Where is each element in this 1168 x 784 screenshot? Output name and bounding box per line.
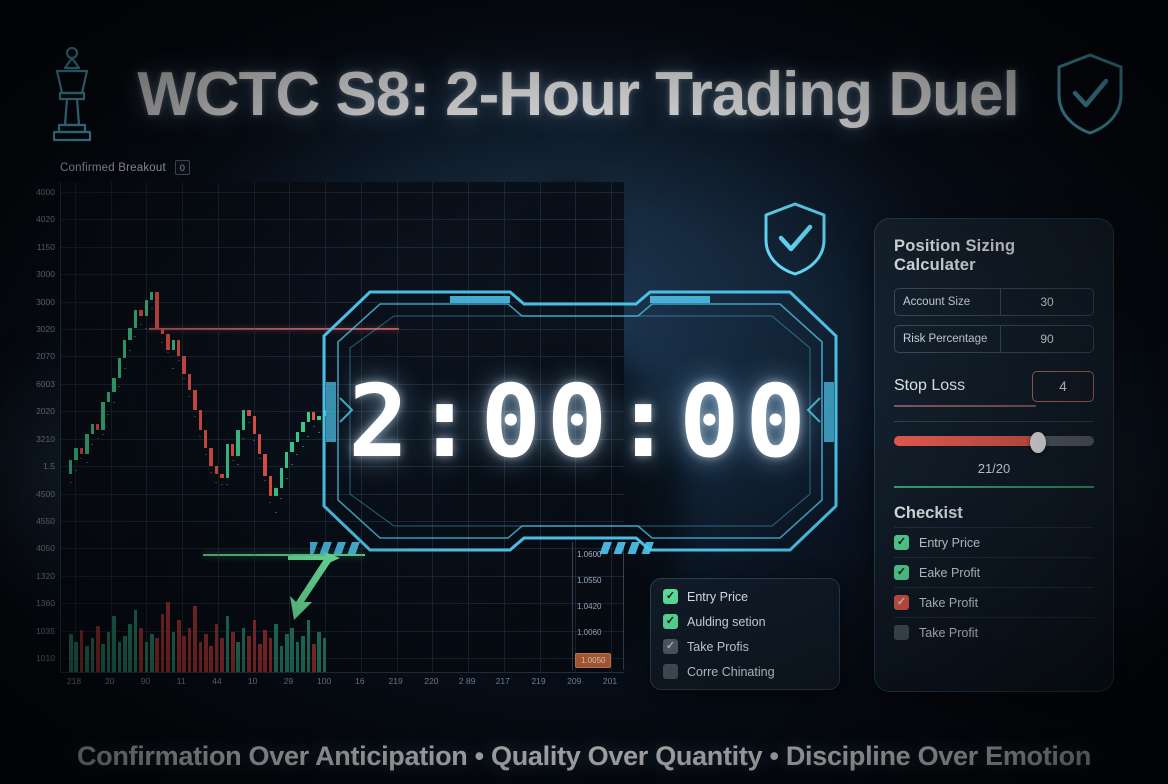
checklist-item[interactable]: ✓Take Profis <box>663 639 827 654</box>
y-axis-tick: 1360 <box>36 598 55 608</box>
panel-divider <box>894 421 1094 422</box>
candlestick <box>263 182 266 672</box>
candlestick <box>215 182 218 672</box>
candle-body <box>242 410 245 430</box>
candle-body <box>145 300 148 316</box>
volume-bar <box>231 632 235 672</box>
candle-wick <box>292 464 293 465</box>
checklist-item[interactable]: Take Profit <box>894 617 1094 647</box>
candle-wick <box>286 478 287 479</box>
y-axis-tick: 1.5 <box>43 461 55 471</box>
volume-bar <box>296 642 300 672</box>
candle-wick <box>70 482 71 483</box>
y-axis-tick: 4020 <box>36 214 55 224</box>
candle-wick <box>167 352 168 353</box>
candle-body <box>139 310 142 316</box>
candlestick <box>166 182 169 672</box>
candle-body <box>69 460 72 474</box>
chart-badge: 0 <box>175 160 190 175</box>
volume-bar <box>128 624 132 672</box>
checkbox-checked[interactable]: ✓ <box>894 535 909 550</box>
candle-wick <box>232 460 233 461</box>
candlestick <box>85 182 88 672</box>
candle-body <box>231 444 234 456</box>
candlestick <box>242 182 245 672</box>
candlestick <box>139 182 142 672</box>
candle-wick <box>113 402 114 403</box>
candle-wick <box>173 368 174 369</box>
x-axis-tick: 20 <box>105 676 114 686</box>
candle-body <box>177 340 180 356</box>
checklist-item[interactable]: ✓Eake Profit <box>894 557 1094 587</box>
volume-bar <box>226 616 230 672</box>
header: WCTC S8: 2-Hour Trading Duel <box>0 34 1168 154</box>
candlestick <box>231 182 234 672</box>
countdown-timer-hud: 2:00:00 <box>310 278 850 564</box>
candle-wick <box>216 482 217 483</box>
candle-wick <box>205 454 206 455</box>
right-axis-price: 1.0550 <box>577 576 601 585</box>
chess-king-icon <box>41 41 103 147</box>
candle-wick <box>259 458 260 459</box>
candle-body <box>134 310 137 328</box>
x-axis-tick: 100 <box>317 676 331 686</box>
candle-wick <box>211 472 212 473</box>
candle-body <box>215 466 218 474</box>
chart-x-axis: 218209011441029100162192202 892172192092… <box>60 674 624 692</box>
candle-body <box>263 454 266 476</box>
checkbox-checked[interactable]: ✓ <box>894 565 909 580</box>
candlestick <box>69 182 72 672</box>
volume-bar <box>107 632 111 672</box>
candle-wick <box>238 464 239 465</box>
y-axis-tick: 1035 <box>36 626 55 636</box>
candle-body <box>269 476 272 496</box>
volume-bar <box>247 636 251 672</box>
volume-bar <box>96 626 100 672</box>
volume-bar <box>74 642 78 672</box>
candlestick <box>74 182 77 672</box>
volume-bar <box>263 630 267 672</box>
position-sizing-panel[interactable]: Position Sizing Calculater Account Size … <box>874 218 1114 692</box>
candle-wick <box>281 498 282 499</box>
volume-bar <box>177 620 181 672</box>
candle-body <box>258 434 261 454</box>
candle-body <box>80 448 83 454</box>
candle-body <box>193 390 196 410</box>
volume-bar <box>290 628 294 672</box>
y-axis-tick: 4500 <box>36 489 55 499</box>
y-axis-tick: 2070 <box>36 351 55 361</box>
risk-percentage-label: Risk Percentage <box>895 326 1001 352</box>
candle-body <box>280 468 283 488</box>
candle-wick <box>254 440 255 441</box>
risk-percentage-value[interactable]: 90 <box>1001 326 1093 352</box>
y-axis-tick: 3020 <box>36 324 55 334</box>
shield-check-icon <box>1053 51 1127 137</box>
volume-bar <box>317 632 321 672</box>
candlestick <box>128 182 131 672</box>
candle-wick <box>184 378 185 379</box>
checklist-item[interactable]: ✓Take Profit <box>894 587 1094 617</box>
candle-body <box>236 430 239 456</box>
volume-bar <box>85 646 89 672</box>
volume-bar <box>274 624 278 672</box>
candlestick <box>112 182 115 672</box>
panel-green-divider <box>894 486 1094 488</box>
checklist-item-label: Corre Chinating <box>687 665 775 679</box>
candlestick <box>274 182 277 672</box>
candle-wick <box>189 396 190 397</box>
x-axis-tick: 220 <box>424 676 438 686</box>
volume-bar <box>323 638 327 672</box>
candle-body <box>155 292 158 328</box>
candle-body <box>161 328 164 334</box>
x-axis-tick: 29 <box>284 676 293 686</box>
candle-body <box>172 340 175 350</box>
candlestick <box>177 182 180 672</box>
checklist-item-label: Aulding setion <box>687 615 766 629</box>
candlestick <box>155 182 158 672</box>
candle-wick <box>151 308 152 309</box>
candle-wick <box>302 446 303 447</box>
candlestick <box>118 182 121 672</box>
candlestick <box>161 182 164 672</box>
account-size-value[interactable]: 30 <box>1001 289 1093 315</box>
candlestick <box>188 182 191 672</box>
candle-body <box>101 402 104 430</box>
volume-bar <box>301 636 305 672</box>
candle-body <box>107 392 110 402</box>
candle-body <box>85 434 88 454</box>
candlestick <box>145 182 148 672</box>
slider-thumb[interactable] <box>1030 432 1046 453</box>
candlestick <box>182 182 185 672</box>
candlestick <box>193 182 196 672</box>
x-axis-tick: 219 <box>531 676 545 686</box>
right-axis-price: 1.0060 <box>577 628 601 637</box>
right-axis-price: 1.0420 <box>577 602 601 611</box>
x-axis-tick: 219 <box>389 676 403 686</box>
checklist-item[interactable]: Corre Chinating <box>663 664 827 679</box>
chart-header: Confirmed Breakout 0 <box>60 160 190 175</box>
candle-wick <box>76 470 77 471</box>
volume-bar <box>91 638 95 672</box>
volume-bar <box>80 630 84 672</box>
candle-body <box>296 432 299 442</box>
candle-body <box>91 424 94 434</box>
risk-percentage-row[interactable]: Risk Percentage 90 <box>894 325 1094 353</box>
candle-wick <box>146 328 147 329</box>
checkbox-checked[interactable]: ✓ <box>663 589 678 604</box>
volume-bar <box>155 638 159 672</box>
x-axis-tick: 90 <box>141 676 150 686</box>
checklist-item-label: Take Profit <box>919 626 978 640</box>
account-size-row[interactable]: Account Size 30 <box>894 288 1094 316</box>
volume-bar <box>123 636 127 672</box>
candle-body <box>204 430 207 448</box>
candle-wick <box>243 438 244 439</box>
y-axis-tick: 4550 <box>36 516 55 526</box>
checklist-item-label: Entry Price <box>687 590 748 604</box>
volume-bar <box>101 644 105 672</box>
candle-wick <box>227 484 228 485</box>
volume-bar <box>258 644 262 672</box>
y-axis-tick: 1150 <box>37 242 55 252</box>
candle-body <box>166 334 169 350</box>
timer-value: 2:00:00 <box>310 278 850 564</box>
candlestick <box>220 182 223 672</box>
y-axis-tick: 2020 <box>36 406 55 416</box>
volume-bar <box>188 628 192 672</box>
shield-check-badge-icon <box>760 200 830 276</box>
checkbox-checked[interactable]: ✓ <box>663 614 678 629</box>
x-axis-tick: 44 <box>212 676 221 686</box>
volume-bar <box>280 646 284 672</box>
volume-bar <box>204 634 208 672</box>
candle-body <box>199 410 202 430</box>
volume-bar <box>118 642 122 672</box>
poster-canvas: WCTC S8: 2-Hour Trading Duel Confirmed B… <box>0 0 1168 784</box>
panel-title: Position Sizing Calculater <box>894 237 1094 275</box>
candle-wick <box>108 414 109 415</box>
candle-wick <box>270 502 271 503</box>
candle-body <box>301 422 304 432</box>
candle-body <box>123 340 126 358</box>
candle-wick <box>97 438 98 439</box>
volume-bar <box>172 632 176 672</box>
y-axis-tick: 1320 <box>36 571 55 581</box>
candle-body <box>96 424 99 430</box>
x-axis-tick: 10 <box>248 676 257 686</box>
checklist-title: Checkist <box>894 504 1094 523</box>
candlestick <box>107 182 110 672</box>
volume-bar <box>69 634 73 672</box>
candle-wick <box>103 434 104 435</box>
candlestick <box>134 182 137 672</box>
checklist-item-label: Eake Profit <box>919 566 980 580</box>
candle-body <box>226 444 229 478</box>
volume-bar <box>215 624 219 672</box>
volume-bar <box>182 636 186 672</box>
checkbox-unchecked[interactable] <box>894 625 909 640</box>
y-axis-tick: 3000 <box>36 297 55 307</box>
stop-loss-label: Stop Loss <box>894 377 965 395</box>
candlestick <box>226 182 229 672</box>
checklist-item[interactable]: ✓Entry Price <box>894 527 1094 557</box>
candlestick <box>258 182 261 672</box>
x-axis-tick: 201 <box>603 676 617 686</box>
candle-wick <box>308 436 309 437</box>
x-axis-tick: 11 <box>177 676 186 686</box>
candlestick <box>96 182 99 672</box>
candle-wick <box>248 422 249 423</box>
candle-wick <box>297 454 298 455</box>
page-title: WCTC S8: 2-Hour Trading Duel <box>137 59 1018 130</box>
x-axis-tick: 209 <box>567 676 581 686</box>
checkbox-unchecked[interactable] <box>663 664 678 679</box>
y-axis-tick: 4000 <box>36 187 55 197</box>
checklist-item-label: Take Profit <box>919 596 978 610</box>
volume-bar <box>253 620 257 672</box>
volume-bar <box>269 638 273 672</box>
candle-wick <box>130 350 131 351</box>
candlestick <box>91 182 94 672</box>
candle-body <box>182 356 185 374</box>
candlestick <box>236 182 239 672</box>
volume-bar <box>134 610 138 672</box>
candle-body <box>253 416 256 434</box>
footer-tagline: Confirmation Over Anticipation • Quality… <box>0 741 1168 772</box>
checkbox-checked-alert[interactable]: ✓ <box>894 595 909 610</box>
x-axis-tick: 16 <box>355 676 364 686</box>
candlestick <box>247 182 250 672</box>
candle-body <box>118 358 121 378</box>
candle-wick <box>92 444 93 445</box>
candle-body <box>220 474 223 478</box>
slider-fill <box>894 436 1038 446</box>
checklist-item-label: Take Profis <box>687 640 749 654</box>
stop-loss-row[interactable]: Stop Loss 4 <box>894 369 1094 403</box>
candle-body <box>247 410 250 416</box>
volume-bar <box>145 642 149 672</box>
candlestick <box>209 182 212 672</box>
account-size-label: Account Size <box>895 289 1001 315</box>
y-axis-tick: 1010 <box>36 653 55 663</box>
risk-slider[interactable] <box>894 434 1094 447</box>
volume-bar <box>139 628 143 672</box>
candlestick <box>101 182 104 672</box>
candlestick <box>80 182 83 672</box>
chart-checklist-overlay[interactable]: ✓Entry Price✓Aulding setion✓Take ProfisC… <box>650 578 840 690</box>
checklist-item-label: Entry Price <box>919 536 980 550</box>
candle-wick <box>221 484 222 485</box>
candle-body <box>188 374 191 390</box>
chart-title: Confirmed Breakout <box>60 162 166 174</box>
candle-wick <box>140 324 141 325</box>
volume-bar <box>236 642 240 672</box>
candle-body <box>112 378 115 392</box>
current-price-tag: 1.0050 <box>575 653 611 668</box>
stop-loss-input[interactable]: 4 <box>1032 371 1094 402</box>
panel-checklist[interactable]: ✓Entry Price✓Eake Profit✓Take ProfitTake… <box>894 527 1094 647</box>
candle-body <box>128 328 131 340</box>
stop-loss-underline <box>894 405 1036 407</box>
candle-wick <box>200 436 201 437</box>
y-axis-tick: 6003 <box>36 379 55 389</box>
candle-body <box>285 452 288 468</box>
y-axis-tick: 3210 <box>36 434 55 444</box>
candlestick <box>123 182 126 672</box>
volume-bar <box>150 634 154 672</box>
candle-body <box>274 488 277 496</box>
volume-bar <box>285 634 289 672</box>
volume-bar <box>112 616 116 672</box>
volume-bar <box>199 642 203 672</box>
volume-bar <box>312 644 316 672</box>
volume-bar <box>242 628 246 672</box>
candle-wick <box>135 336 136 337</box>
volume-bar <box>166 602 170 672</box>
chart-y-axis: 4000402011503000300030202070600320203210… <box>24 182 58 672</box>
candle-wick <box>124 368 125 369</box>
candlestick <box>269 182 272 672</box>
y-axis-tick: 3000 <box>36 269 55 279</box>
candle-body <box>209 448 212 466</box>
candlestick <box>253 182 256 672</box>
candle-body <box>150 292 153 300</box>
candle-wick <box>81 458 82 459</box>
candle-wick <box>86 462 87 463</box>
volume-bar <box>161 614 165 672</box>
slider-value-text: 21/20 <box>894 461 1094 476</box>
candle-wick <box>162 342 163 343</box>
candle-wick <box>178 360 179 361</box>
candlestick <box>172 182 175 672</box>
volume-bar <box>209 646 213 672</box>
checkbox-checked-muted[interactable]: ✓ <box>663 639 678 654</box>
candle-body <box>74 448 77 460</box>
candlestick <box>204 182 207 672</box>
candlestick <box>150 182 153 672</box>
x-axis-tick: 218 <box>67 676 81 686</box>
candle-body <box>290 442 293 452</box>
candle-wick <box>119 386 120 387</box>
volume-bar <box>220 638 224 672</box>
candle-wick <box>275 512 276 513</box>
candlestick <box>199 182 202 672</box>
chart-x-baseline <box>60 672 624 673</box>
y-axis-tick: 4050 <box>36 543 55 553</box>
checklist-item[interactable]: ✓Entry Price <box>663 589 827 604</box>
candle-wick <box>265 480 266 481</box>
candle-wick <box>194 416 195 417</box>
checklist-item[interactable]: ✓Aulding setion <box>663 614 827 629</box>
x-axis-tick: 2 89 <box>459 676 476 686</box>
volume-bar <box>193 606 197 672</box>
x-axis-tick: 217 <box>496 676 510 686</box>
